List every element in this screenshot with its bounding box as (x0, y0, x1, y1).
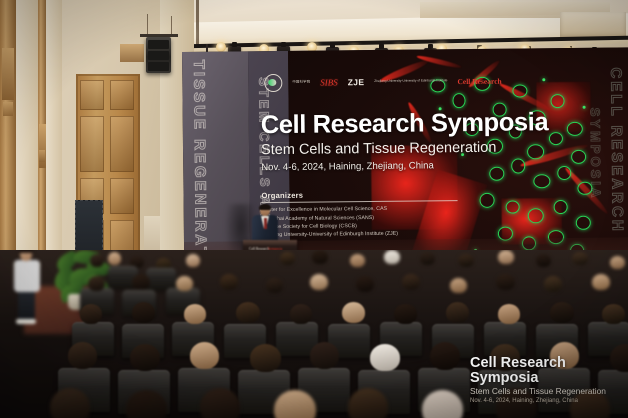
attendee-head (498, 250, 514, 264)
watermark-title: Cell Research Symposia (470, 356, 622, 386)
door-panel (80, 116, 104, 172)
attendee-head (312, 250, 328, 264)
attendee-head (186, 254, 200, 267)
banner-subtitle: Stem Cells and Tissue Regeneration (261, 139, 561, 159)
speaker-suspension-wire (171, 16, 172, 36)
attendee-head (370, 344, 400, 371)
banner-title: Cell Research Symposia (261, 110, 561, 139)
attendee-head (310, 274, 328, 290)
watermark-date-location: Nov. 4-6, 2024, Haining, Zhejiang, China (470, 398, 622, 405)
cell-green-dot (583, 106, 586, 109)
watermark-subtitle: Stem Cells and Tissue Regeneration (470, 387, 622, 397)
attendee-head (342, 302, 365, 323)
wall-wood-panel (2, 48, 14, 100)
attendee-head (602, 304, 625, 324)
attendee-head (450, 278, 467, 293)
organizers-divider (262, 200, 458, 203)
attendee-head (130, 344, 160, 371)
cell-green-ring (571, 150, 586, 164)
banner-headline-block: Cell Research Symposia Stem Cells and Ti… (261, 110, 562, 248)
cell-research-logo: Cell Research (457, 76, 501, 85)
attendee-head (220, 274, 238, 290)
attendee-head (610, 256, 625, 269)
attendee-head (356, 276, 374, 292)
attendee-head (200, 388, 240, 418)
standing-attendee-legs (18, 291, 35, 321)
attendee-head (290, 304, 312, 324)
attendee-head (310, 342, 339, 369)
attendee-head (572, 252, 588, 265)
sibs-script-logo: SIBS (320, 77, 338, 87)
attendee-head (420, 252, 435, 265)
attendee-head (280, 252, 295, 265)
chair (146, 268, 176, 290)
attendee-head (458, 254, 474, 267)
door-panel (110, 178, 134, 214)
attendee-head (108, 252, 121, 265)
attendee-head (544, 276, 562, 292)
attendee-head (348, 388, 388, 418)
lectern-top (243, 240, 297, 245)
banner-vertical-text-cell-research: CELL RESEARCH (607, 67, 626, 277)
attendee-head (402, 274, 420, 290)
cas-logo-label: 中国科学院 (292, 81, 310, 85)
standing-attendee-shoes (16, 319, 36, 324)
attendee-head (384, 250, 400, 264)
attendee-head (430, 342, 460, 370)
attendee-head (176, 276, 193, 291)
standing-attendee-shirt (14, 260, 40, 292)
attendee-head (266, 278, 283, 293)
attendee-head (190, 342, 219, 369)
line-array-loudspeaker (146, 37, 171, 73)
cas-excellence-center-logo (264, 74, 282, 92)
standing-attendee-hair (19, 250, 33, 253)
attendee-head (250, 344, 281, 372)
attendee-head (536, 254, 551, 267)
cell-green-ring (550, 94, 564, 108)
banner-logo-row: 中国科学院 SIBS ZJE Zhejiang University-Unive… (264, 71, 514, 94)
conference-photo: TISSUE REGENERATION STEM CELLS AND CELL … (0, 0, 628, 418)
attendee-head (68, 342, 97, 369)
cell-green-ring (452, 93, 465, 108)
attendee-head (80, 304, 102, 324)
attendee-head (446, 302, 469, 323)
attendee-head (236, 302, 260, 323)
attendee-head (50, 388, 90, 418)
cell-green-ring (512, 84, 527, 97)
organizers-heading: Organizers (261, 188, 561, 200)
attendee-head (184, 304, 206, 324)
attendee-head (132, 302, 155, 323)
door-panel (110, 80, 134, 110)
ceiling-seam (196, 0, 199, 46)
attendee-head (132, 274, 150, 290)
cell-green-dot (542, 78, 545, 81)
attendee-head (90, 254, 104, 267)
attendee-head (592, 274, 610, 290)
cell-green-ring (567, 122, 583, 136)
ceiling-downlight (216, 42, 226, 52)
zje-institute-logo: ZJE (348, 77, 365, 87)
presenter-tie (264, 218, 267, 229)
attendee-head (350, 254, 365, 267)
door-panel (110, 116, 134, 172)
banner-date-location: Nov. 4-6, 2024, Haining, Zhejiang, China (261, 159, 561, 174)
wall-wood-panel (39, 150, 45, 162)
wall-wood-panel (3, 102, 13, 116)
wall-recess (120, 44, 144, 62)
attendee-head (88, 276, 105, 291)
presenter-hair (259, 204, 271, 210)
speaker-suspension-wire (147, 14, 148, 36)
standing-attendee (14, 250, 40, 326)
door-panel (80, 80, 104, 110)
photo-watermark: Cell Research Symposia Stem Cells and Ti… (470, 356, 622, 405)
ceiling-beam-box (560, 12, 626, 38)
zje-logo-label: Zhejiang University-University of Edinbu… (374, 79, 447, 83)
banner-vertical-text-symposia: SYMPOSIA (588, 108, 605, 258)
attendee-head (498, 304, 520, 324)
attendee-head (394, 304, 417, 324)
attendee-head (550, 302, 574, 323)
attendee-head (496, 274, 515, 290)
